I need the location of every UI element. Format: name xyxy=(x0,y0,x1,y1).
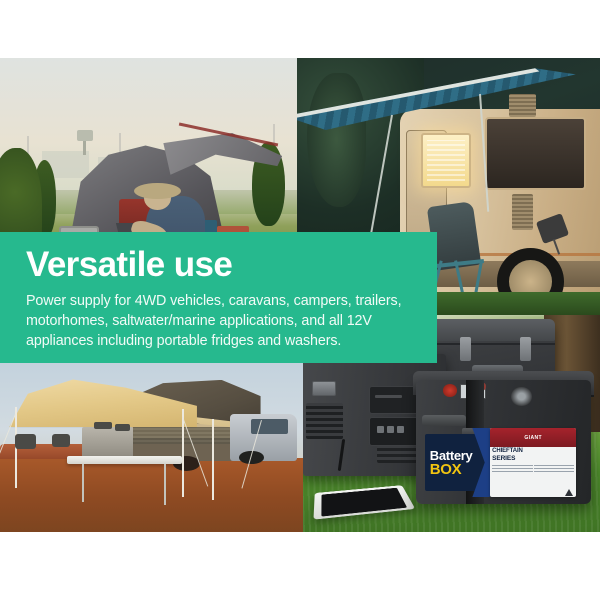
versatile-use-banner: Versatile use Power supply for 4WD vehic… xyxy=(0,232,437,363)
caravan-vent xyxy=(509,94,536,117)
series-brand-text: GIANT xyxy=(524,435,542,441)
spec-column xyxy=(492,463,533,472)
camp-gear xyxy=(52,434,70,448)
folding-camp-table xyxy=(67,456,182,464)
canopy-pole xyxy=(212,419,214,500)
fridge-latch xyxy=(460,337,471,361)
wide-brim-hat xyxy=(134,183,182,200)
battery-box-terminal-knob xyxy=(511,387,532,407)
fridge-side-handle xyxy=(312,381,337,396)
battery-box-side-handle xyxy=(422,415,467,426)
caravan-vent xyxy=(512,194,533,230)
spec-column xyxy=(534,463,575,472)
table-leg xyxy=(82,464,84,501)
banner-heading: Versatile use xyxy=(26,245,415,285)
caravan-large-window xyxy=(485,117,586,190)
camp-gear xyxy=(15,434,36,449)
product-feature-image: Battery BOX GIANT CHIEFTAIN SERIES xyxy=(0,0,600,600)
cooking-pot xyxy=(94,422,112,429)
chieftain-series-label: GIANT CHIEFTAIN SERIES xyxy=(490,428,576,497)
water-tank xyxy=(77,130,93,141)
fridge-latch xyxy=(520,337,531,361)
control-button xyxy=(387,426,394,433)
control-button xyxy=(397,426,404,433)
red-dirt-ground xyxy=(0,458,303,532)
banner-body-text: Power supply for 4WD vehicles, caravans,… xyxy=(26,291,415,351)
outback-camper-trailer-photo xyxy=(0,363,303,532)
lit-caravan-window xyxy=(421,133,470,188)
control-button xyxy=(377,426,384,433)
cooking-pot xyxy=(115,424,130,431)
power-cord xyxy=(338,439,345,471)
fridge-vent-grille xyxy=(306,403,343,439)
series-label-brand-bar: GIANT xyxy=(490,428,576,447)
camp-kitchen-unit xyxy=(82,427,134,457)
series-label-spec-rows xyxy=(492,463,574,472)
recycle-symbol-icon xyxy=(565,489,573,496)
series-label-text-block: CHIEFTAIN SERIES xyxy=(490,447,576,472)
series-label-line2: SERIES xyxy=(492,455,574,462)
table-leg xyxy=(164,464,166,505)
